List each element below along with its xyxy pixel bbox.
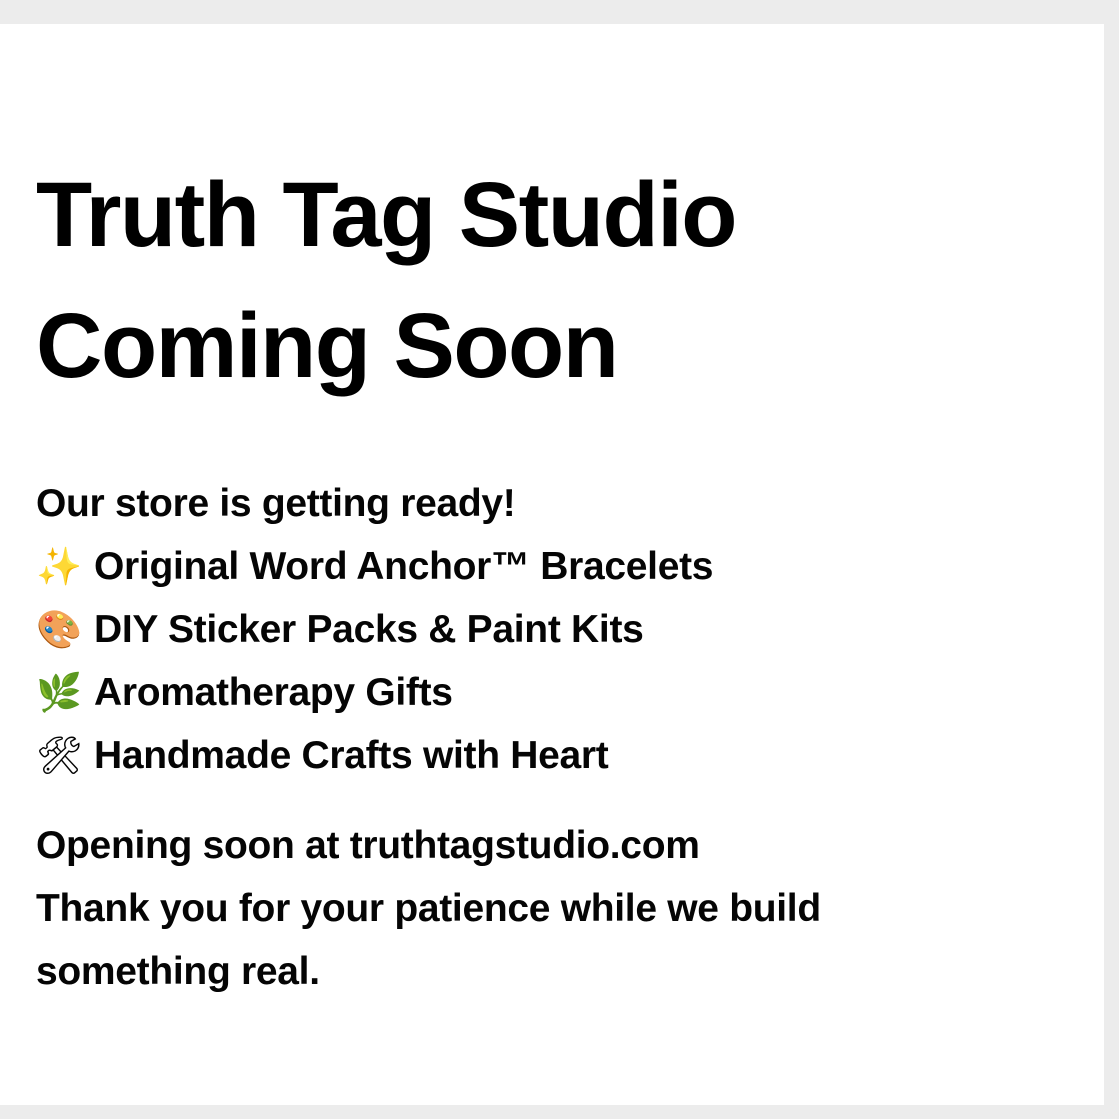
intro-and-feature-list: Our store is getting ready! ✨Original Wo… <box>36 472 1056 787</box>
closing-message: Opening soon at truthtagstudio.com Thank… <box>36 814 966 1003</box>
list-item-label: DIY Sticker Packs & Paint Kits <box>94 608 644 651</box>
list-item: 🛠Handmade Crafts with Heart <box>36 724 1056 787</box>
list-item: 🌿Aromatherapy Gifts <box>36 661 1056 724</box>
intro-lead-text: Our store is getting ready! <box>36 472 1056 535</box>
page-title-line-1: Truth Tag Studio <box>36 164 736 266</box>
page-canvas: Truth Tag StudioComing Soon Our store is… <box>0 24 1104 1105</box>
artist-palette-icon: 🎨 <box>36 598 94 661</box>
sparkles-icon: ✨ <box>36 535 94 598</box>
opening-soon-line: Opening soon at truthtagstudio.com <box>36 814 966 877</box>
thank-you-line: Thank you for your patience while we bui… <box>36 877 966 1003</box>
hammer-and-wrench-icon: 🛠 <box>36 724 94 787</box>
list-item: 🎨DIY Sticker Packs & Paint Kits <box>36 598 1056 661</box>
page-title-line-2: Coming Soon <box>36 295 617 397</box>
coming-soon-content: Truth Tag StudioComing Soon Our store is… <box>36 150 1056 1003</box>
list-item-label: Aromatherapy Gifts <box>94 671 453 714</box>
list-item: ✨Original Word Anchor™ Bracelets <box>36 535 1056 598</box>
list-item-label: Original Word Anchor™ Bracelets <box>94 545 713 588</box>
page-title: Truth Tag StudioComing Soon <box>36 150 796 412</box>
herb-icon: 🌿 <box>36 661 94 724</box>
list-item-label: Handmade Crafts with Heart <box>94 734 608 777</box>
